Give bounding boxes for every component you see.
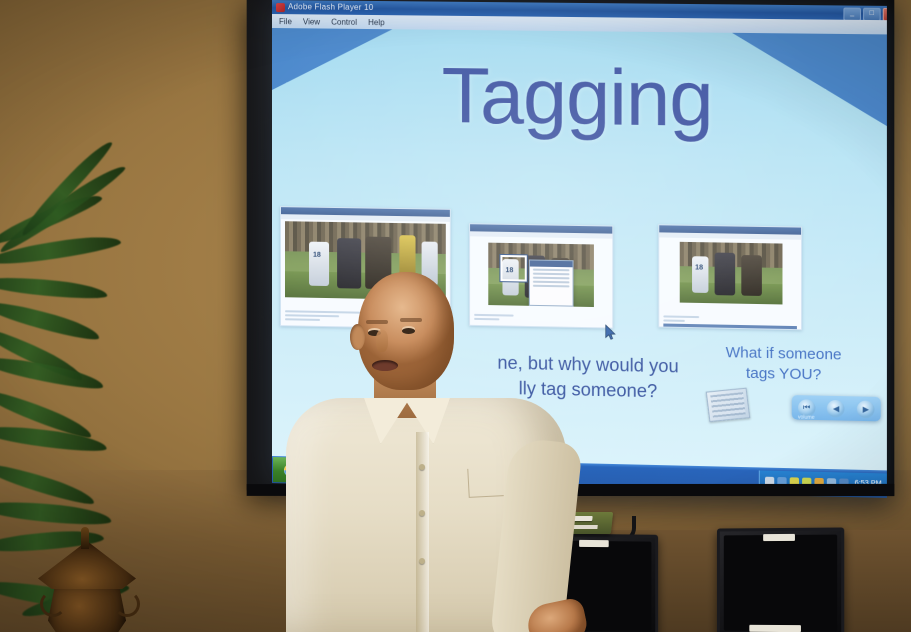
- presenter: [286, 272, 566, 632]
- flash-playback-controls[interactable]: ⏮ ◀ ▶ volume: [792, 395, 881, 421]
- player-dark-2: [741, 255, 762, 296]
- flash-icon: [276, 3, 285, 12]
- menu-item-file[interactable]: File: [279, 17, 292, 26]
- monitor-screen: [724, 535, 837, 632]
- monitor-left-label: [579, 540, 609, 547]
- football-photo: 18: [680, 242, 783, 305]
- presenter-nose: [376, 330, 388, 352]
- presenter-brow-left: [366, 320, 388, 324]
- presenter-shirt-placket: [416, 432, 429, 632]
- presenter-brow-right: [400, 318, 422, 322]
- forward-icon[interactable]: ▶: [857, 400, 875, 418]
- facebook-screenshot-3[interactable]: 18: [658, 224, 802, 330]
- shirt-button-3: [419, 558, 425, 564]
- lantern-scroll-right: [114, 591, 140, 617]
- presenter-eye-right: [402, 328, 415, 334]
- black-monitor-right: [717, 527, 844, 632]
- presenter-shirt-pocket: [467, 467, 503, 498]
- presenter-ear: [350, 324, 365, 350]
- menu-item-help[interactable]: Help: [368, 17, 385, 26]
- slide-title: Tagging: [272, 52, 887, 142]
- presenter-mouth: [372, 360, 398, 371]
- window-title-text: Adobe Flash Player 10: [288, 2, 373, 12]
- monitor-right-label-bottom: [749, 625, 801, 632]
- player-dark-1: [715, 253, 736, 296]
- lantern-scroll-left: [40, 591, 66, 617]
- facebook-subbar: [470, 231, 612, 238]
- potted-palm-plant: [0, 225, 187, 632]
- jersey-number-3: 18: [695, 264, 703, 271]
- slide-callout-line-2: tags YOU?: [695, 363, 872, 387]
- monitor-right-label: [763, 534, 795, 541]
- mouse-pointer-icon: [605, 324, 616, 340]
- back-icon[interactable]: ◀: [827, 399, 845, 417]
- shirt-button-1: [419, 464, 425, 470]
- facebook-subbar: [659, 232, 801, 239]
- slide-photo-card-decoration: [706, 388, 751, 422]
- menu-item-control[interactable]: Control: [331, 17, 357, 26]
- menu-item-view[interactable]: View: [303, 17, 320, 26]
- facebook-footer-bar: [663, 324, 796, 331]
- player-white: [692, 256, 708, 293]
- shirt-button-2: [419, 510, 425, 516]
- jersey-number-1: 18: [313, 252, 321, 259]
- screenshot-root: Adobe Flash Player 10 _ □ × File View Co…: [0, 0, 911, 632]
- lantern-finial: [81, 527, 89, 549]
- slide-callout: What if someone tags YOU?: [695, 342, 872, 386]
- playbar-label: volume: [798, 414, 815, 420]
- tag-menu-highlight: [530, 260, 573, 267]
